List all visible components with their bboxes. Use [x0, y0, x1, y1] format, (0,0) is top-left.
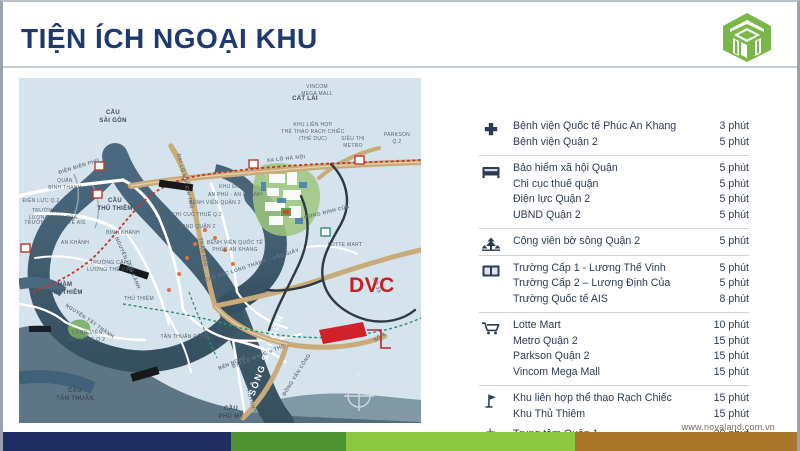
amenity-row: Công viên bờ sông Quận 2 5 phút: [513, 234, 749, 250]
amenity-name: Khu liên hợp thể thao Rạch Chiếc: [513, 391, 672, 407]
map-graphic: CẦU SÀI GÒN CẦU THỦ THIÊM HẦM THỦ THIÊM …: [19, 78, 421, 423]
amenity-row: Trường Cấp 1 - Lương Thế Vinh 5 phút: [513, 261, 749, 277]
svg-text:LOTTE MART: LOTTE MART: [328, 242, 363, 248]
svg-text:CHI CỤC THUẾ Q.2: CHI CỤC THUẾ Q.2: [172, 211, 222, 218]
project-marker-label: DVC: [349, 274, 395, 298]
shopping-cart-icon: [481, 320, 501, 336]
amenity-time: 15 phút: [706, 365, 749, 381]
svg-text:CẦU: CẦU: [106, 109, 120, 116]
amenity-time: 15 phút: [706, 391, 749, 407]
park-tree-icon: [481, 236, 501, 252]
svg-text:(THỂ DỤC): (THỂ DỤC): [299, 135, 327, 142]
svg-text:TÂN THUẬN ĐÔNG: TÂN THUẬN ĐÔNG: [160, 333, 209, 340]
svg-text:THỂ THAO RẠCH CHIẾC: THỂ THAO RẠCH CHIẾC: [281, 128, 344, 135]
svg-text:HẦM: HẦM: [58, 281, 73, 288]
amenity-time: 5 phút: [712, 234, 749, 250]
amenity-row: Khu Thủ Thiêm 15 phút: [513, 407, 749, 423]
government-building-icon: [481, 163, 501, 179]
amenity-group-park: Công viên bờ sông Quận 2 5 phút: [479, 228, 749, 255]
svg-text:PHÚC AN KHANG: PHÚC AN KHANG: [212, 246, 257, 253]
svg-text:METRO: METRO: [343, 143, 363, 149]
amenity-row: Metro Quận 2 15 phút: [513, 334, 749, 350]
amenity-time: 10 phút: [706, 318, 749, 334]
svg-text:Q.2: Q.2: [393, 139, 402, 145]
color-bar-light-green: [346, 432, 575, 451]
amenity-name: Trường Cấp 1 - Lương Thế Vinh: [513, 261, 666, 277]
amenity-row: Bệnh viện Quốc tế Phúc An Khang 3 phút: [513, 119, 749, 135]
amenity-group-hospital: Bệnh viện Quốc tế Phúc An Khang 3 phút B…: [479, 114, 749, 155]
amenity-row: Chi cục thuế quận 5 phút: [513, 177, 749, 193]
svg-text:UBND QUẬN 2: UBND QUẬN 2: [178, 223, 215, 230]
amenity-row: Khu liên hợp thể thao Rạch Chiếc 15 phút: [513, 391, 749, 407]
amenity-row: UBND Quận 2 5 phút: [513, 208, 749, 224]
amenities-list: Bệnh viện Quốc tế Phúc An Khang 3 phút B…: [479, 114, 749, 448]
amenity-time: 15 phút: [706, 407, 749, 423]
amenity-name: Trường Quốc tế AIS: [513, 292, 608, 308]
amenity-row: Lotte Mart 10 phút: [513, 318, 749, 334]
open-book-icon: [481, 263, 501, 279]
svg-text:LƯƠNG ĐỊNH CỦA: LƯƠNG ĐỊNH CỦA: [29, 214, 78, 221]
sports-flag-icon: [481, 393, 501, 409]
amenity-name: Bệnh viện Quốc tế Phúc An Khang: [513, 119, 676, 135]
amenity-group-sports: Khu liên hợp thể thao Rạch Chiếc 15 phút…: [479, 385, 749, 427]
amenity-name: Lotte Mart: [513, 318, 561, 334]
amenity-row: Bảo hiểm xã hội Quận 5 phút: [513, 161, 749, 177]
svg-text:BÌNH KHÁNH: BÌNH KHÁNH: [106, 229, 140, 236]
svg-text:BỆNH VIỆN QUỐC TẾ: BỆNH VIỆN QUỐC TẾ: [207, 238, 263, 246]
svg-text:BÌNH THẠNH: BÌNH THẠNH: [48, 184, 82, 191]
svg-text:TÂN THUẬN: TÂN THUẬN: [56, 395, 94, 402]
svg-text:THỦ THIÊM: THỦ THIÊM: [124, 294, 154, 302]
svg-text:SIÊU THỊ: SIÊU THỊ: [341, 134, 364, 142]
amenity-time: 5 phút: [712, 135, 749, 151]
amenity-name: UBND Quận 2: [513, 208, 581, 224]
color-bar-navy: [3, 432, 231, 451]
svg-text:LƯƠNG THẾ VINH: LƯƠNG THẾ VINH: [87, 266, 135, 273]
amenity-name: Khu Thủ Thiêm: [513, 407, 585, 423]
amenity-group-school: Trường Cấp 1 - Lương Thế Vinh 5 phút Trư…: [479, 255, 749, 313]
amenity-time: 5 phút: [712, 192, 749, 208]
amenity-name: Vincom Mega Mall: [513, 365, 600, 381]
svg-text:THỦ THIÊM: THỦ THIÊM: [97, 204, 132, 212]
amenity-name: Parkson Quận 2: [513, 349, 590, 365]
amenity-time: 8 phút: [712, 292, 749, 308]
svg-text:KHU ĐÔ THỊ: KHU ĐÔ THỊ: [219, 183, 251, 190]
svg-text:AN KHÁNH: AN KHÁNH: [61, 239, 89, 246]
svg-text:CẦU: CẦU: [108, 197, 122, 204]
svg-text:PARKSON: PARKSON: [384, 132, 410, 138]
hospital-cross-icon: [481, 121, 501, 137]
amenity-name: Trường Cấp 2 – Lương Định Của: [513, 276, 670, 292]
color-bar-dark-green: [231, 432, 346, 451]
page-title: TIỆN ÍCH NGOẠI KHU: [21, 23, 318, 55]
svg-text:VINCOM: VINCOM: [306, 84, 328, 90]
svg-text:TRƯỜNG CẤP 1: TRƯỜNG CẤP 1: [90, 259, 132, 266]
amenity-group-shopping: Lotte Mart 10 phút Metro Quận 2 15 phút …: [479, 312, 749, 385]
amenity-name: Công viên bờ sông Quận 2: [513, 234, 640, 250]
amenity-row: Trường Quốc tế AIS 8 phút: [513, 292, 749, 308]
amenity-time: 5 phút: [712, 161, 749, 177]
amenity-name: Metro Quận 2: [513, 334, 578, 350]
svg-text:PHÚ MỸ: PHÚ MỸ: [218, 413, 243, 420]
amenity-time: 15 phút: [706, 349, 749, 365]
amenity-name: Bệnh viện Quận 2: [513, 135, 598, 151]
svg-text:AN PHÚ - AN KHÁNH: AN PHÚ - AN KHÁNH: [208, 191, 262, 198]
location-map[interactable]: CẦU SÀI GÒN CẦU THỦ THIÊM HẦM THỦ THIÊM …: [19, 78, 421, 423]
svg-text:BỆNH VIỆN QUẬN 2: BỆNH VIỆN QUẬN 2: [189, 198, 241, 206]
svg-text:B: B: [357, 373, 362, 380]
amenity-name: Bảo hiểm xã hội Quận: [513, 161, 618, 177]
amenity-time: 15 phút: [706, 334, 749, 350]
svg-text:ĐIỆN LỰC Q.2: ĐIỆN LỰC Q.2: [22, 196, 59, 204]
amenity-time: 5 phút: [712, 276, 749, 292]
amenity-row: Vincom Mega Mall 15 phút: [513, 365, 749, 381]
svg-text:SÀI GÒN: SÀI GÒN: [99, 116, 126, 124]
amenity-name: Chi cục thuế quận: [513, 177, 598, 193]
amenity-group-government: Bảo hiểm xã hội Quận 5 phút Chi cục thuế…: [479, 155, 749, 228]
website-url[interactable]: www.novaland.com.vn: [682, 422, 775, 432]
novaland-cube-logo: [719, 11, 775, 63]
amenity-time: 5 phút: [712, 208, 749, 224]
amenity-time: 3 phút: [712, 119, 749, 135]
svg-text:MEGA MALL: MEGA MALL: [301, 91, 333, 97]
slide-header: TIỆN ÍCH NGOẠI KHU: [3, 2, 797, 68]
svg-text:CẦU: CẦU: [68, 387, 82, 394]
amenity-time: 5 phút: [712, 261, 749, 277]
amenity-row: Trường Cấp 2 – Lương Định Của 5 phút: [513, 276, 749, 292]
slide-root: TIỆN ÍCH NGOẠI KHU: [0, 0, 800, 451]
svg-text:THỦ THIÊM: THỦ THIÊM: [47, 288, 82, 296]
amenity-name: Điện lực Quận 2: [513, 192, 590, 208]
footer-color-bar: [3, 432, 797, 451]
svg-text:QUẬN: QUẬN: [57, 177, 73, 184]
amenity-row: Parkson Quận 2 15 phút: [513, 349, 749, 365]
amenity-row: Điện lực Quận 2 5 phút: [513, 192, 749, 208]
color-bar-brown: [575, 432, 797, 451]
svg-text:CẦU: CẦU: [224, 405, 238, 412]
svg-text:BỜ SÔNG Q.2: BỜ SÔNG Q.2: [69, 336, 105, 343]
amenity-row: Bệnh viện Quận 2 5 phút: [513, 135, 749, 151]
svg-text:KHU LIÊN HỢP: KHU LIÊN HỢP: [293, 120, 333, 128]
amenity-time: 5 phút: [712, 177, 749, 193]
svg-text:TRƯỜNG CẤP 2: TRƯỜNG CẤP 2: [32, 207, 74, 214]
